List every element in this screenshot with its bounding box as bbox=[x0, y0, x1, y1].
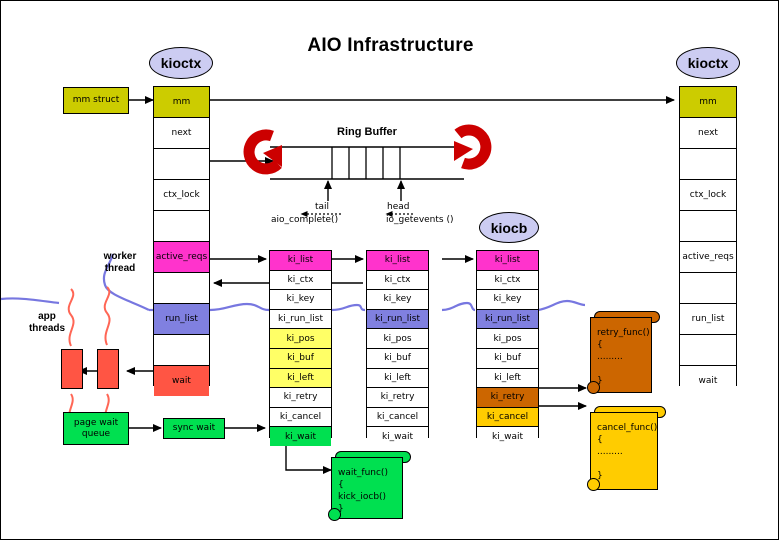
mm-struct-box: mm struct bbox=[63, 87, 129, 114]
kiocb-1-row-ki_wait: ki_wait bbox=[270, 427, 331, 446]
aio-complete-label: aio_complete() bbox=[271, 215, 338, 225]
row-label: ki_wait bbox=[382, 432, 413, 442]
wait-func-note-body: wait_func() { kick_iocb() } bbox=[331, 457, 403, 519]
sync-wait-box: sync wait bbox=[163, 418, 225, 439]
kioctx-right-row-run_list: run_list bbox=[680, 304, 736, 335]
kioctx-left-row-mm: mm bbox=[154, 87, 209, 118]
row-label: run_list bbox=[692, 314, 725, 324]
row-label: active_reqs bbox=[156, 252, 207, 262]
kiocb-1-row-ki_pos: ki_pos bbox=[270, 329, 331, 349]
row-label: ki_cancel bbox=[280, 412, 321, 422]
row-label: ki_pos bbox=[286, 334, 314, 344]
wait-func-note-bottom-roll bbox=[328, 508, 341, 521]
kioctx-right-row-blank-6 bbox=[680, 273, 736, 304]
kioctx-right-row-active_reqs: active_reqs bbox=[680, 242, 736, 273]
kioctx-left-struct: mmnextctx_lockactive_reqsrun_listwait bbox=[153, 86, 210, 386]
row-label: ctx_lock bbox=[690, 190, 726, 200]
kioctx-right-row-mm: mm bbox=[680, 87, 736, 118]
kioctx-right-row-wait: wait bbox=[680, 366, 736, 396]
kiocb-3-row-ki_ctx: ki_ctx bbox=[477, 271, 538, 291]
row-label: ki_retry bbox=[491, 392, 525, 402]
kioctx-left-row-blank-4 bbox=[154, 211, 209, 242]
kiocb-2-row-ki_pos: ki_pos bbox=[367, 329, 428, 349]
row-label: active_reqs bbox=[682, 252, 733, 262]
retry-func-note: retry_func() { ......... } bbox=[590, 311, 660, 393]
kiocb-3-row-ki_run_list: ki_run_list bbox=[477, 310, 538, 330]
row-label: ki_ctx bbox=[494, 275, 520, 285]
row-label: ki_buf bbox=[494, 353, 521, 363]
row-label: ki_buf bbox=[287, 353, 314, 363]
row-label: ki_left bbox=[494, 373, 521, 383]
kiocb-3-row-ki_key: ki_key bbox=[477, 290, 538, 310]
kiocb-struct-1: ki_listki_ctxki_keyki_run_listki_poski_b… bbox=[269, 250, 332, 438]
kioctx-left-tag-label: kioctx bbox=[161, 55, 201, 71]
kiocb-2-row-ki_list: ki_list bbox=[367, 251, 428, 271]
row-label: ki_run_list bbox=[375, 314, 420, 324]
tail-label: tail bbox=[315, 202, 329, 212]
ring-rotate-right-icon bbox=[458, 130, 486, 164]
kiocb-3-row-ki_left: ki_left bbox=[477, 369, 538, 389]
row-label: wait bbox=[699, 376, 718, 386]
row-label: ki_retry bbox=[284, 392, 318, 402]
row-label: ki_list bbox=[385, 255, 410, 265]
row-label: ki_cancel bbox=[487, 412, 528, 422]
kioctx-right-tag-label: kioctx bbox=[688, 55, 728, 71]
cancel-func-note-bottom-roll bbox=[587, 478, 600, 491]
kiocb-1-row-ki_buf: ki_buf bbox=[270, 349, 331, 369]
kiocb-3-row-ki_pos: ki_pos bbox=[477, 329, 538, 349]
ring-rotate-left-icon bbox=[249, 135, 278, 169]
row-label: next bbox=[698, 128, 718, 138]
kioctx-left-row-next: next bbox=[154, 118, 209, 149]
worker-thread-label: workerthread bbox=[89, 251, 151, 275]
row-label: ki_pos bbox=[383, 334, 411, 344]
row-label: ki_list bbox=[288, 255, 313, 265]
row-label: run_list bbox=[165, 314, 198, 324]
aio-complete-label-wrap: aio_complete() bbox=[271, 215, 338, 225]
app-threads-label: appthreads bbox=[19, 311, 75, 335]
row-label: mm bbox=[173, 97, 191, 107]
mm-struct-label: mm struct bbox=[73, 95, 120, 106]
row-label: ctx_lock bbox=[163, 190, 199, 200]
row-label: wait bbox=[172, 376, 191, 386]
sync-wait-label: sync wait bbox=[173, 423, 215, 434]
kioctx-left-row-blank-8 bbox=[154, 335, 209, 366]
kiocb-1-row-ki_run_list: ki_run_list bbox=[270, 310, 331, 330]
retry-func-note-body: retry_func() { ......... } bbox=[590, 317, 652, 393]
row-label: ki_wait bbox=[492, 432, 523, 442]
kiocb-2-row-ki_key: ki_key bbox=[367, 290, 428, 310]
kiocb-struct-2: ki_listki_ctxki_keyki_run_listki_poski_b… bbox=[366, 250, 429, 438]
kioctx-right-row-ctx_lock: ctx_lock bbox=[680, 180, 736, 211]
ring-buffer-label: Ring Buffer bbox=[337, 126, 397, 138]
page-wait-queue-box: page waitqueue bbox=[63, 412, 129, 445]
head-label: head bbox=[387, 202, 409, 212]
kiocb-1-row-ki_cancel: ki_cancel bbox=[270, 408, 331, 428]
row-label: ki_left bbox=[384, 373, 411, 383]
head-label-wrap: head bbox=[387, 202, 409, 212]
kioctx-right-row-blank-4 bbox=[680, 211, 736, 242]
kioctx-right-row-blank-2 bbox=[680, 149, 736, 180]
row-label: ki_left bbox=[287, 373, 314, 383]
tail-label-wrap: tail bbox=[315, 202, 329, 212]
kioctx-left-row-run_list: run_list bbox=[154, 304, 209, 335]
row-label: ki_list bbox=[495, 255, 520, 265]
ring-buffer-title: Ring Buffer bbox=[297, 126, 437, 138]
kiocb-3-row-ki_retry: ki_retry bbox=[477, 388, 538, 408]
kiocb-2-row-ki_run_list: ki_run_list bbox=[367, 310, 428, 330]
row-label: ki_key bbox=[494, 294, 522, 304]
kiocb-tag: kiocb bbox=[479, 212, 539, 243]
kioctx-left-tag: kioctx bbox=[149, 47, 213, 79]
kioctx-right-tag: kioctx bbox=[676, 47, 740, 79]
kiocb-struct-3: ki_listki_ctxki_keyki_run_listki_poski_b… bbox=[476, 250, 539, 438]
kiocb-3-row-ki_buf: ki_buf bbox=[477, 349, 538, 369]
kioctx-left-row-wait: wait bbox=[154, 366, 209, 396]
page-wait-queue-label: page waitqueue bbox=[74, 418, 118, 440]
kiocb-1-row-ki_ctx: ki_ctx bbox=[270, 271, 331, 291]
row-label: ki_retry bbox=[381, 392, 415, 402]
row-label: mm bbox=[699, 97, 717, 107]
kiocb-2-row-ki_ctx: ki_ctx bbox=[367, 271, 428, 291]
kiocb-1-row-ki_left: ki_left bbox=[270, 369, 331, 389]
kioctx-left-row-blank-6 bbox=[154, 273, 209, 304]
row-label: ki_buf bbox=[384, 353, 411, 363]
row-label: ki_wait bbox=[285, 432, 316, 442]
row-label: ki_run_list bbox=[278, 314, 323, 324]
wait-func-note: wait_func() { kick_iocb() } bbox=[331, 451, 411, 519]
kiocb-2-row-ki_buf: ki_buf bbox=[367, 349, 428, 369]
row-label: ki_ctx bbox=[287, 275, 313, 285]
kioctx-right-row-next: next bbox=[680, 118, 736, 149]
io-getevents-label: io_getevents () bbox=[386, 215, 454, 225]
kiocb-2-row-ki_cancel: ki_cancel bbox=[367, 408, 428, 428]
kiocb-tag-label: kiocb bbox=[491, 220, 528, 236]
kiocb-1-row-ki_list: ki_list bbox=[270, 251, 331, 271]
kioctx-left-row-blank-2 bbox=[154, 149, 209, 180]
kiocb-1-row-ki_retry: ki_retry bbox=[270, 388, 331, 408]
app-thread-block-2 bbox=[97, 349, 119, 389]
page-title: AIO Infrastructure bbox=[1, 35, 779, 57]
kioctx-right-struct: mmnextctx_lockactive_reqsrun_listwait bbox=[679, 86, 737, 386]
kioctx-right-row-blank-8 bbox=[680, 335, 736, 366]
row-label: next bbox=[172, 128, 192, 138]
row-label: ki_run_list bbox=[485, 314, 530, 324]
kiocb-2-row-ki_left: ki_left bbox=[367, 369, 428, 389]
cancel-func-note: cancel_func() { ......... } bbox=[590, 406, 666, 490]
kiocb-3-row-ki_wait: ki_wait bbox=[477, 427, 538, 446]
retry-func-note-bottom-roll bbox=[587, 381, 600, 394]
kioctx-left-row-active_reqs: active_reqs bbox=[154, 242, 209, 273]
row-label: ki_cancel bbox=[377, 412, 418, 422]
row-label: ki_key bbox=[384, 294, 412, 304]
kiocb-2-row-ki_wait: ki_wait bbox=[367, 427, 428, 446]
row-label: ki_ctx bbox=[384, 275, 410, 285]
cancel-func-note-body: cancel_func() { ......... } bbox=[590, 412, 658, 490]
row-label: ki_pos bbox=[493, 334, 521, 344]
kiocb-2-row-ki_retry: ki_retry bbox=[367, 388, 428, 408]
row-label: ki_key bbox=[287, 294, 315, 304]
io-getevents-label-wrap: io_getevents () bbox=[386, 215, 454, 225]
kiocb-1-row-ki_key: ki_key bbox=[270, 290, 331, 310]
kioctx-left-row-ctx_lock: ctx_lock bbox=[154, 180, 209, 211]
kiocb-3-row-ki_list: ki_list bbox=[477, 251, 538, 271]
app-thread-block-1 bbox=[61, 349, 83, 389]
kiocb-3-row-ki_cancel: ki_cancel bbox=[477, 408, 538, 428]
diagram-canvas: AIO Infrastructure bbox=[0, 0, 779, 540]
